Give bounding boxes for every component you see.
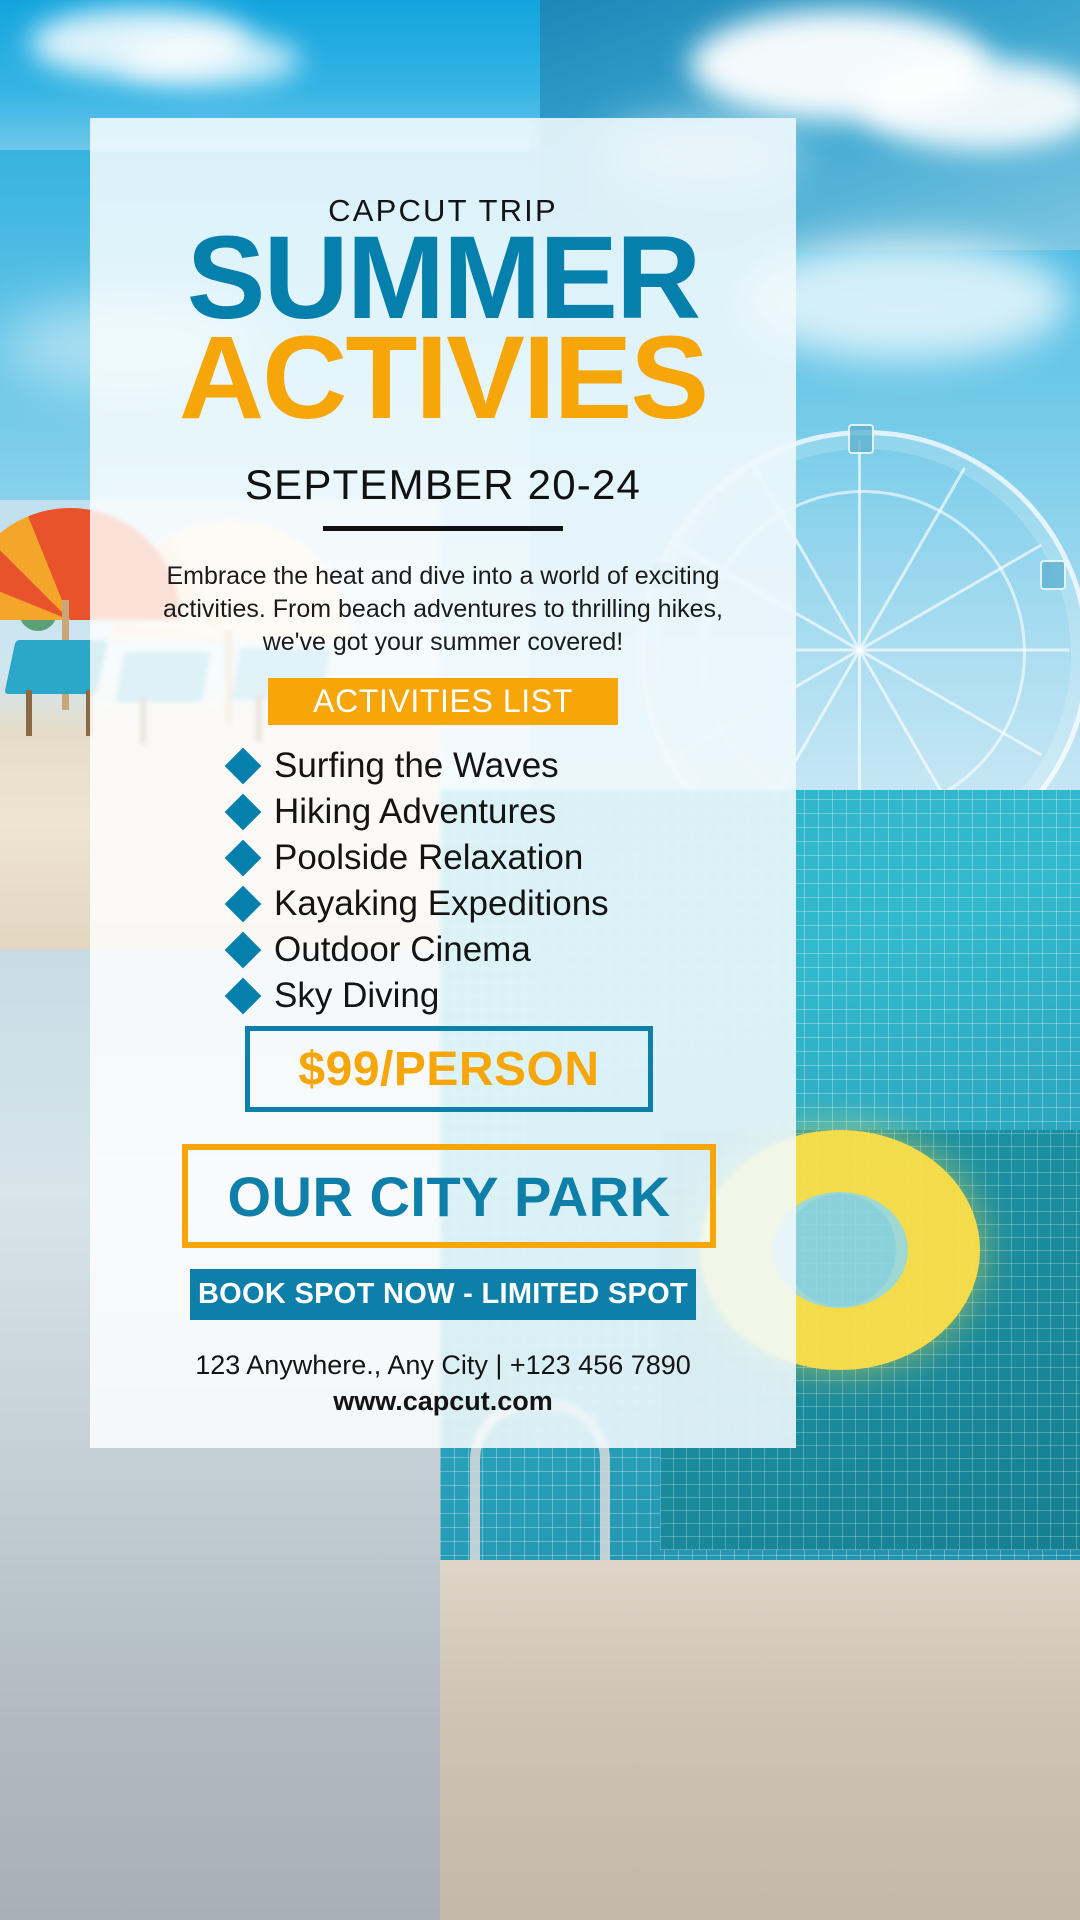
event-date: SEPTEMBER 20-24 [90,461,796,509]
diamond-bullet-icon [225,978,262,1015]
venue-box: OUR CITY PARK [182,1144,716,1248]
contact-line: 123 Anywhere., Any City | +123 456 7890 [90,1350,796,1381]
list-item-label: Hiking Adventures [274,792,556,832]
list-item-label: Poolside Relaxation [274,838,583,878]
book-spot-button-label: BOOK SPOT NOW - LIMITED SPOT [198,1278,688,1311]
list-item: Outdoor Cinema [230,930,750,970]
book-spot-button[interactable]: BOOK SPOT NOW - LIMITED SPOT [190,1269,696,1320]
list-item-label: Surfing the Waves [274,746,559,786]
pool-deck [440,1560,1080,1920]
website-link[interactable]: www.capcut.com [90,1386,796,1417]
price-box: $99/PERSON [245,1026,653,1112]
list-item: Sky Diving [230,976,750,1016]
diamond-bullet-icon [225,748,262,785]
description-text: Embrace the heat and dive into a world o… [148,560,738,659]
diamond-bullet-icon [225,840,262,877]
list-item: Hiking Adventures [230,792,750,832]
list-item: Kayaking Expeditions [230,884,750,924]
summer-activities-poster: CAPCUT TRIP SUMMER ACTIVIES SEPTEMBER 20… [0,0,1080,1920]
list-item-label: Outdoor Cinema [274,930,531,970]
price-label: $99/PERSON [298,1042,599,1097]
poster-content: CAPCUT TRIP SUMMER ACTIVIES SEPTEMBER 20… [90,118,796,1448]
list-item: Poolside Relaxation [230,838,750,878]
list-item-label: Kayaking Expeditions [274,884,609,924]
activities-list: Surfing the Waves Hiking Adventures Pool… [230,746,750,1022]
list-item: Surfing the Waves [230,746,750,786]
chair-leg [26,690,32,736]
activities-list-banner-label: ACTIVITIES LIST [313,683,573,720]
divider-rule [323,526,563,531]
cloud-icon [120,34,300,86]
diamond-bullet-icon [225,886,262,923]
diamond-bullet-icon [225,794,262,831]
ferris-wheel-cabin [1040,560,1066,590]
ferris-wheel-cabin [848,424,874,454]
page-title-line2: ACTIVIES [90,328,796,428]
venue-label: OUR CITY PARK [227,1164,670,1229]
activities-list-banner: ACTIVITIES LIST [268,678,618,725]
list-item-label: Sky Diving [274,976,439,1016]
diamond-bullet-icon [225,932,262,969]
